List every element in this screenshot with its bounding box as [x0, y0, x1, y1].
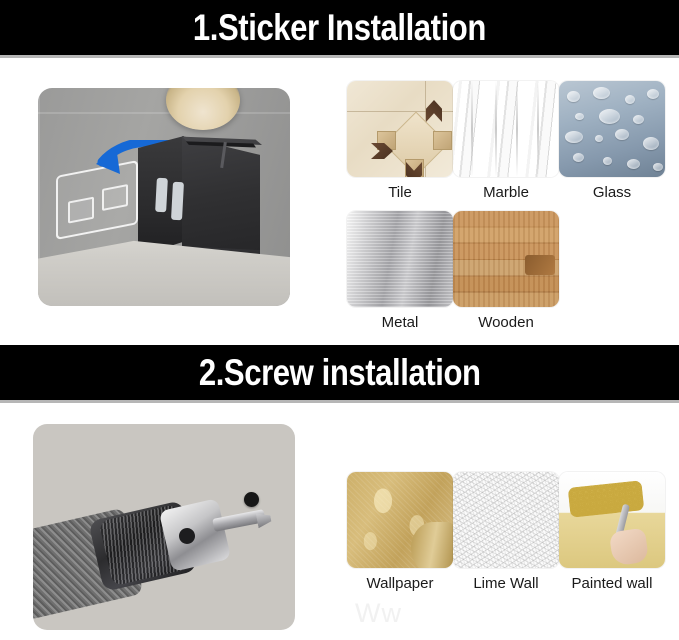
surface-label-wallpaper: Wallpaper: [347, 575, 453, 592]
surface-label-wooden: Wooden: [453, 314, 559, 331]
surface-label-painted-wall: Painted wall: [559, 575, 665, 592]
surface-label-lime-wall: Lime Wall: [453, 575, 559, 592]
section-2-rule: [0, 400, 679, 403]
tile-swatch-image: [347, 81, 453, 177]
wooden-swatch-image: [453, 211, 559, 307]
surface-swatch-wallpaper: Wallpaper: [347, 472, 453, 592]
section-2-title: 2.Screw installation: [199, 354, 481, 391]
section-1-title: 1.Sticker Installation: [193, 9, 486, 46]
surface-label-glass: Glass: [559, 184, 665, 201]
watermark: Ww: [355, 598, 402, 629]
wall-seam: [38, 112, 290, 114]
surface-swatch-glass: Glass: [559, 81, 665, 201]
caddy-slot: [155, 178, 168, 213]
marble-swatch-image: [453, 81, 559, 177]
caddy-slot: [171, 182, 184, 221]
surface-swatch-lime-wall: Lime Wall: [453, 472, 559, 592]
drilled-hole: [244, 492, 259, 507]
wallpaper-swatch-image: [347, 472, 453, 568]
sticker-tab: [68, 197, 94, 224]
metal-swatch-image: [347, 211, 453, 307]
drill-photo: [33, 424, 295, 630]
surface-swatch-painted-wall: Painted wall: [559, 472, 665, 592]
sticker-install-photo: [38, 88, 290, 306]
section-1-banner: 1.Sticker Installation: [0, 0, 679, 55]
section-2-banner: 2.Screw installation: [0, 345, 679, 400]
section-1-rule: [0, 55, 679, 58]
surface-swatch-metal: Metal: [347, 211, 453, 331]
painted-wall-swatch-image: [559, 472, 665, 568]
surface-label-metal: Metal: [347, 314, 453, 331]
infographic-page: 1.Sticker Installation: [0, 0, 679, 640]
glass-swatch-image: [559, 81, 665, 177]
surface-label-marble: Marble: [453, 184, 559, 201]
surface-swatch-wooden: Wooden: [453, 211, 559, 331]
surface-swatch-tile: Tile: [347, 81, 453, 201]
surface-label-tile: Tile: [347, 184, 453, 201]
surface-swatch-marble: Marble: [453, 81, 559, 201]
lime-wall-swatch-image: [453, 472, 559, 568]
